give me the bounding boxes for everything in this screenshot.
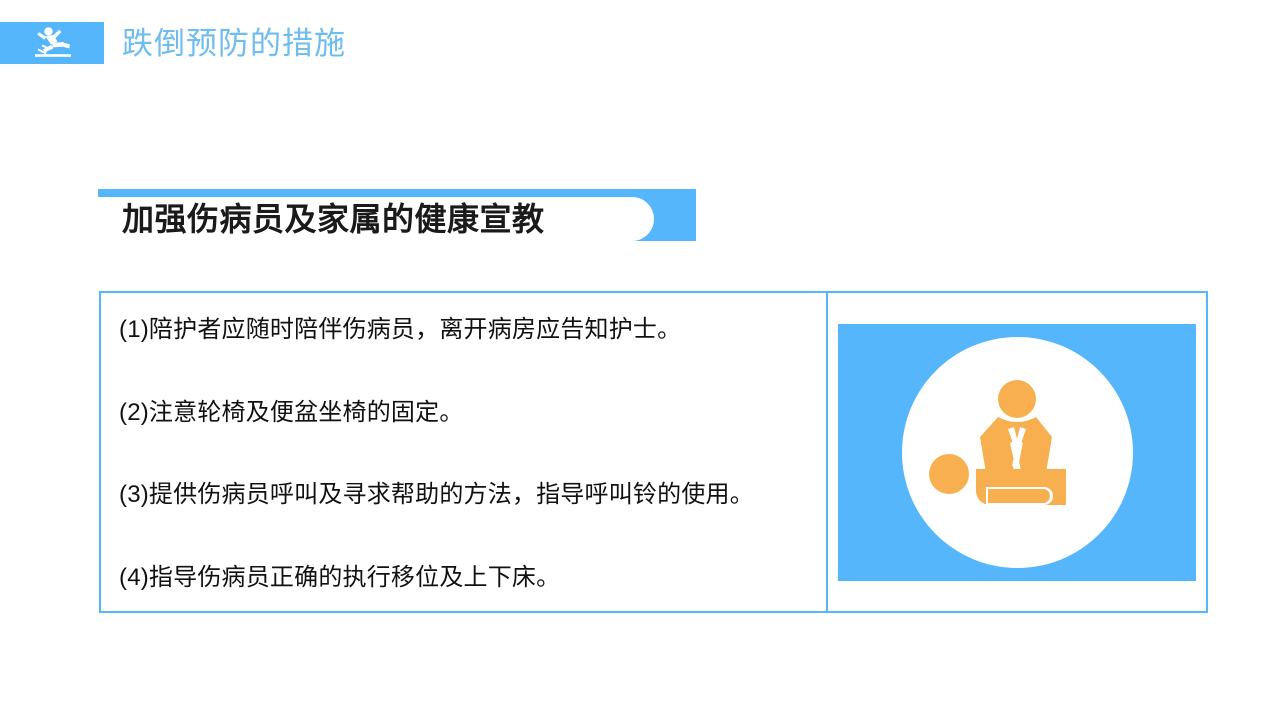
section-title: 加强伤病员及家属的健康宣教	[122, 197, 545, 241]
illustration-panel	[827, 291, 1208, 613]
header-icon-container	[0, 22, 104, 64]
slide-header: 跌倒预防的措施	[0, 22, 346, 64]
measures-text-panel: (1)陪护者应随时陪伴伤病员，离开病房应告知护士。 (2)注意轮椅及便盆坐椅的固…	[99, 291, 827, 613]
cpr-resuscitation-icon	[924, 377, 1110, 527]
content-row: (1)陪护者应随时陪伴伤病员，离开病房应告知护士。 (2)注意轮椅及便盆坐椅的固…	[99, 291, 1208, 613]
illustration-blue-backdrop	[838, 324, 1196, 581]
measure-item-1: (1)陪护者应随时陪伴伤病员，离开病房应告知护士。	[119, 315, 808, 345]
section-banner: 加强伤病员及家属的健康宣教	[98, 189, 696, 241]
measure-item-3: (3)提供伤病员呼叫及寻求帮助的方法，指导呼叫铃的使用。	[119, 480, 808, 510]
measure-item-4: (4)指导伤病员正确的执行移位及上下床。	[119, 563, 808, 593]
measure-item-2: (2)注意轮椅及便盆坐椅的固定。	[119, 398, 808, 428]
header-title: 跌倒预防的措施	[122, 28, 346, 59]
person-slipping-icon	[26, 26, 78, 60]
banner-top-accent-bar	[98, 189, 696, 197]
illustration-circle	[902, 337, 1133, 568]
